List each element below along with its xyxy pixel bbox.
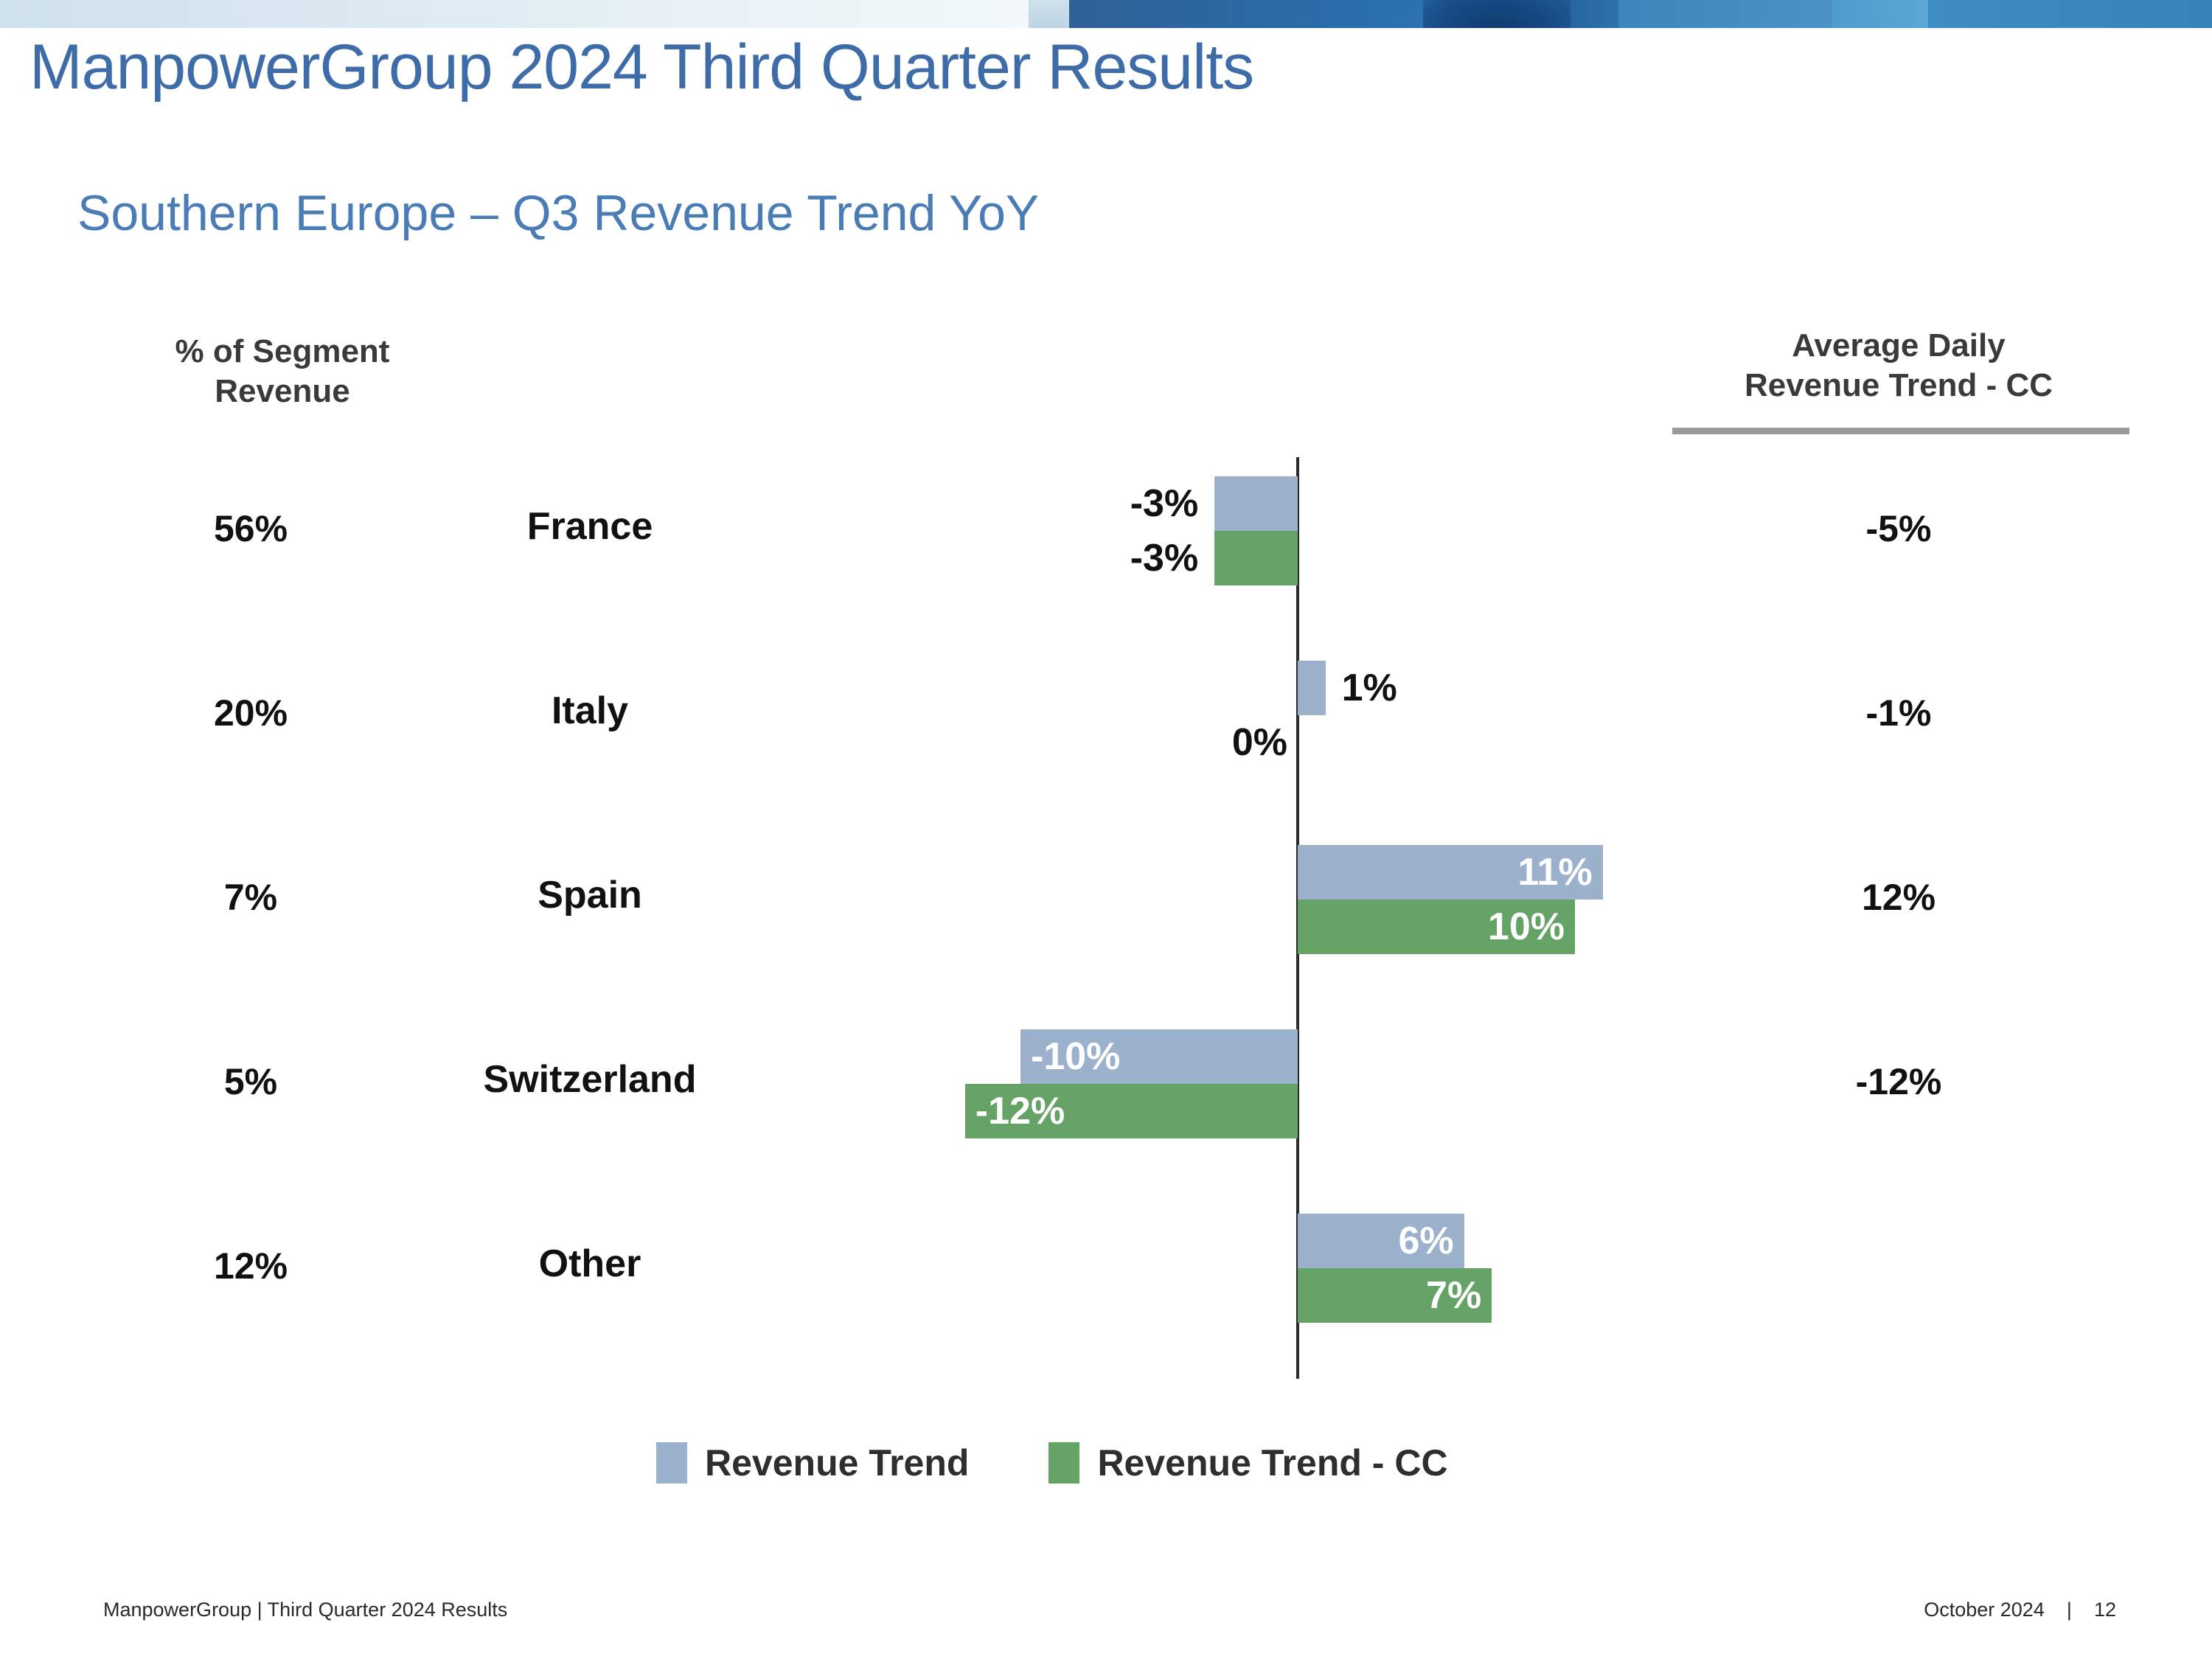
bar-value-label-revenue-trend-cc: 10% [1488,900,1565,954]
country-label: Switzerland [398,1057,782,1102]
banner-segment-light [0,0,1029,28]
average-daily-revenue-trend-value: -5% [1663,507,2135,550]
banner-curve-accent [1423,0,1571,28]
footer-left-text: ManpowerGroup | Third Quarter 2024 Resul… [103,1599,507,1621]
header-banner [0,0,2212,28]
bar-value-label-revenue-trend-cc: 0% [1232,715,1287,770]
country-label: Italy [398,689,782,733]
pct-of-segment-revenue-value: 56% [133,507,369,550]
pct-of-segment-revenue-value: 5% [133,1060,369,1103]
legend-swatch-icon-revenue-trend [656,1442,687,1484]
bar-value-label-revenue-trend: 1% [1342,661,1397,715]
bar-value-label-revenue-trend: 11% [1517,845,1592,900]
country-label: France [398,504,782,549]
footer-page-number: 12 [2094,1599,2116,1621]
banner-segment-medium-blue [1069,0,1453,28]
bar-value-label-revenue-trend-cc: -12% [975,1084,1065,1138]
right-column-header-line2: Revenue Trend - CC [1663,366,2135,406]
footer-separator: | [2067,1599,2072,1621]
average-daily-revenue-trend-value: -1% [1663,692,2135,734]
legend-item-revenue-trend[interactable]: Revenue Trend [656,1441,969,1484]
pct-of-segment-revenue-value: 7% [133,876,369,919]
banner-segment-sky-blue [1618,0,1832,28]
legend-label-revenue-trend-cc: Revenue Trend - CC [1097,1441,1447,1484]
footer-right-text: October 2024 | 12 [1924,1599,2116,1621]
right-column-header: Average Daily Revenue Trend - CC [1663,326,2135,405]
bar-value-label-revenue-trend: -3% [1130,476,1198,531]
right-column-header-line1: Average Daily [1663,326,2135,366]
right-column-header-rule [1672,428,2129,434]
average-daily-revenue-trend-value: 12% [1663,876,2135,919]
pct-of-segment-revenue-value: 12% [133,1245,369,1287]
country-label: Spain [398,873,782,917]
banner-segment-light-sky [1832,0,1928,28]
left-column-header-line2: Revenue [109,372,456,411]
bar-revenue-trend-cc[interactable] [1214,531,1298,585]
slide: ManpowerGroup 2024 Third Quarter Results… [0,0,2212,1659]
page-title: ManpowerGroup 2024 Third Quarter Results [29,31,1253,104]
banner-segment-pale-blue [1029,0,1069,28]
page-subtitle: Southern Europe – Q3 Revenue Trend YoY [77,184,1039,242]
left-column-header-line1: % of Segment [109,332,456,372]
footer-date: October 2024 [1924,1599,2045,1621]
legend-label-revenue-trend: Revenue Trend [705,1441,969,1484]
left-column-header: % of Segment Revenue [109,332,456,411]
legend-swatch-icon-revenue-trend-cc [1048,1442,1079,1484]
chart-legend: Revenue Trend Revenue Trend - CC [656,1441,1448,1484]
legend-item-revenue-trend-cc[interactable]: Revenue Trend - CC [1048,1441,1447,1484]
pct-of-segment-revenue-value: 20% [133,692,369,734]
bar-revenue-trend[interactable] [1298,661,1326,715]
bar-chart-plot: -3%-3%1%0%11%10%-10%-12%6%7% [914,457,1652,1379]
average-daily-revenue-trend-value: -12% [1663,1060,2135,1103]
bar-revenue-trend[interactable] [1214,476,1298,531]
bar-value-label-revenue-trend-cc: 7% [1426,1268,1481,1323]
country-label: Other [398,1242,782,1286]
bar-value-label-revenue-trend: 6% [1398,1214,1453,1268]
banner-segment-right-blue [1928,0,2212,28]
bar-value-label-revenue-trend-cc: -3% [1130,531,1198,585]
bar-value-label-revenue-trend: -10% [1031,1029,1120,1084]
